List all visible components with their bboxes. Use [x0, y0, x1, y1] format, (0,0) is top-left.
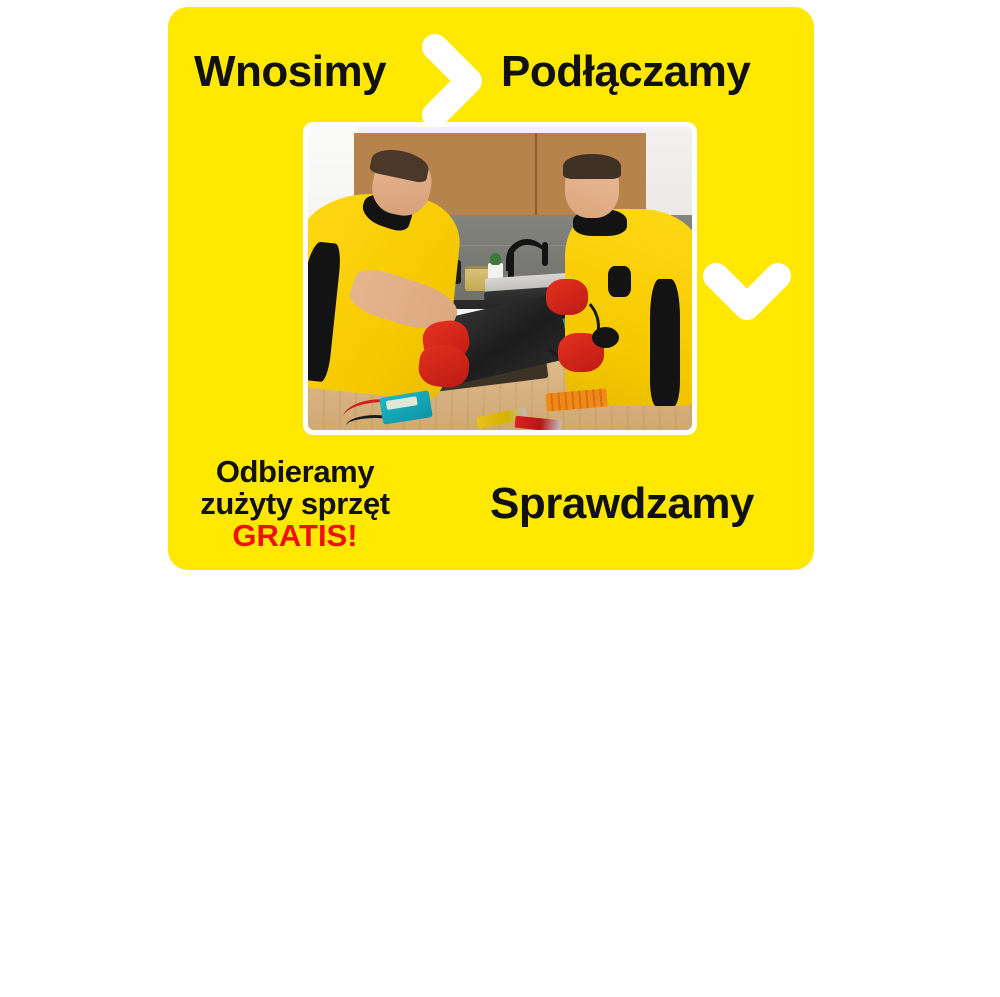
faucet-spout — [542, 242, 548, 266]
step-label-odbieramy: Odbieramy zużyty sprzęt GRATIS! — [182, 456, 408, 553]
step-label-podlaczamy: Podłączamy — [501, 50, 750, 94]
steps-top-row: Wnosimy Podłączamy — [168, 34, 814, 126]
technicians-installing-cooktop-photo — [308, 127, 692, 430]
photo-frame — [303, 122, 697, 435]
technician-right-glove-upper — [546, 279, 588, 315]
technician-right-hair — [563, 154, 621, 178]
chevron-left-icon — [411, 901, 483, 997]
wristwatch — [592, 327, 619, 348]
chevron-down-icon — [702, 260, 792, 324]
promo-card: Wnosimy Podłączamy — [168, 7, 814, 570]
chevron-right-icon — [417, 34, 489, 128]
technician-right-side-panel — [650, 279, 681, 406]
gratis-badge: GRATIS! — [182, 520, 408, 552]
odbieramy-line-2: zużyty sprzęt — [182, 488, 408, 520]
technician-right-sleeve-band — [608, 266, 631, 296]
step-label-wnosimy: Wnosimy — [194, 50, 386, 94]
odbieramy-line-1: Odbieramy — [182, 456, 408, 488]
step-label-sprawdzamy: Sprawdzamy — [490, 482, 754, 526]
steps-bottom-row: Odbieramy zużyty sprzęt GRATIS! Sprawdza… — [168, 450, 814, 565]
banner-canvas: Wnosimy Podłączamy — [0, 0, 1000, 581]
